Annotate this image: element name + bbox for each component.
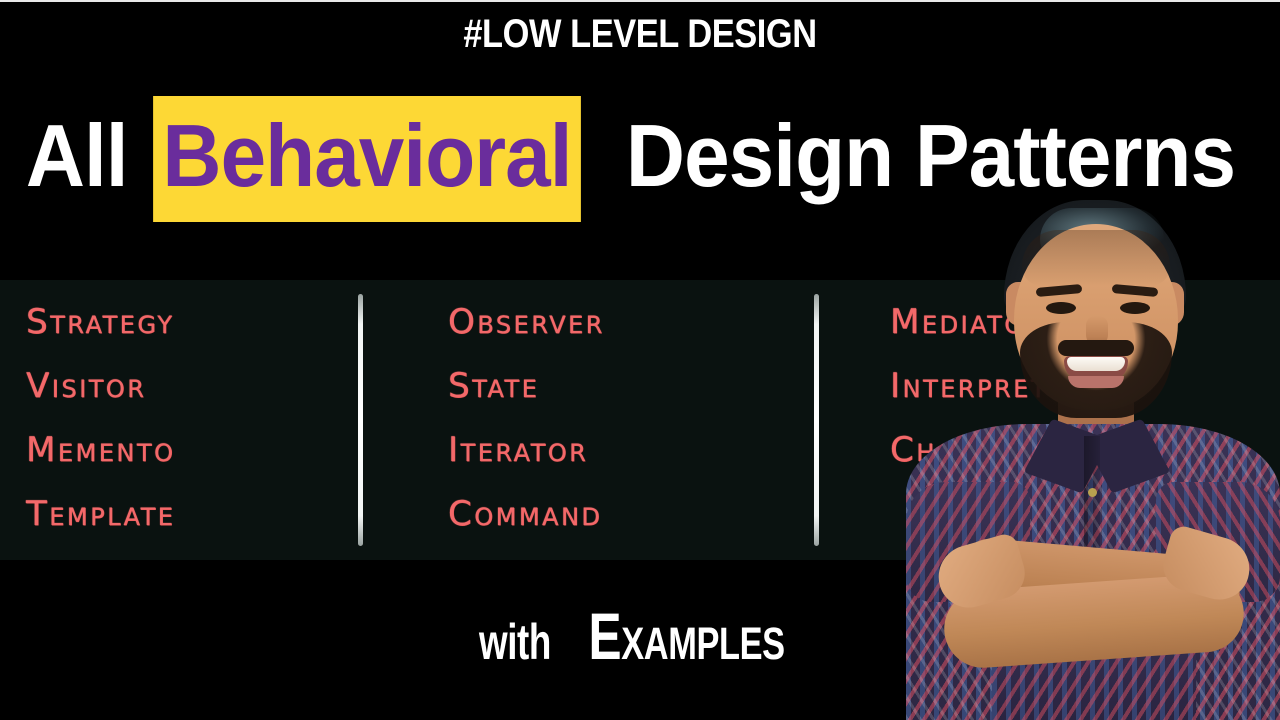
presenter-lower-lip	[1068, 376, 1124, 388]
top-hairline	[0, 0, 1280, 2]
hashtag-label: #LOW LEVEL DESIGN	[90, 12, 1191, 57]
headline-highlight: Behavioral	[153, 96, 581, 222]
pattern-item: Observer	[448, 290, 778, 354]
pattern-column-2: Observer State Iterator Command	[448, 290, 778, 550]
caption: withExamples	[0, 604, 1280, 675]
presenter-forehead	[1022, 230, 1170, 286]
pattern-item: Strategy	[26, 290, 326, 354]
presenter-eye-right	[1120, 302, 1150, 314]
headline-prefix: All	[26, 100, 128, 212]
pattern-item: State	[448, 354, 778, 418]
pattern-column-1: Strategy Visitor Memento Template	[26, 290, 326, 550]
video-thumbnail: #LOW LEVEL DESIGN AllBehavioralDesign Pa…	[0, 0, 1280, 720]
pattern-item: Iterator	[448, 418, 778, 482]
caption-examples: Examples	[589, 600, 785, 675]
caption-with: with	[479, 613, 551, 671]
presenter-teeth	[1067, 357, 1125, 371]
presenter-mustache	[1058, 340, 1134, 356]
presenter-shirt-button	[1088, 488, 1097, 497]
pattern-item: Visitor	[26, 354, 326, 418]
column-divider-1	[358, 294, 363, 546]
pattern-item: Template	[26, 482, 326, 546]
pattern-item: Memento	[26, 418, 326, 482]
presenter-eye-left	[1046, 302, 1076, 314]
column-divider-2	[814, 294, 819, 546]
pattern-item: Command	[448, 482, 778, 546]
